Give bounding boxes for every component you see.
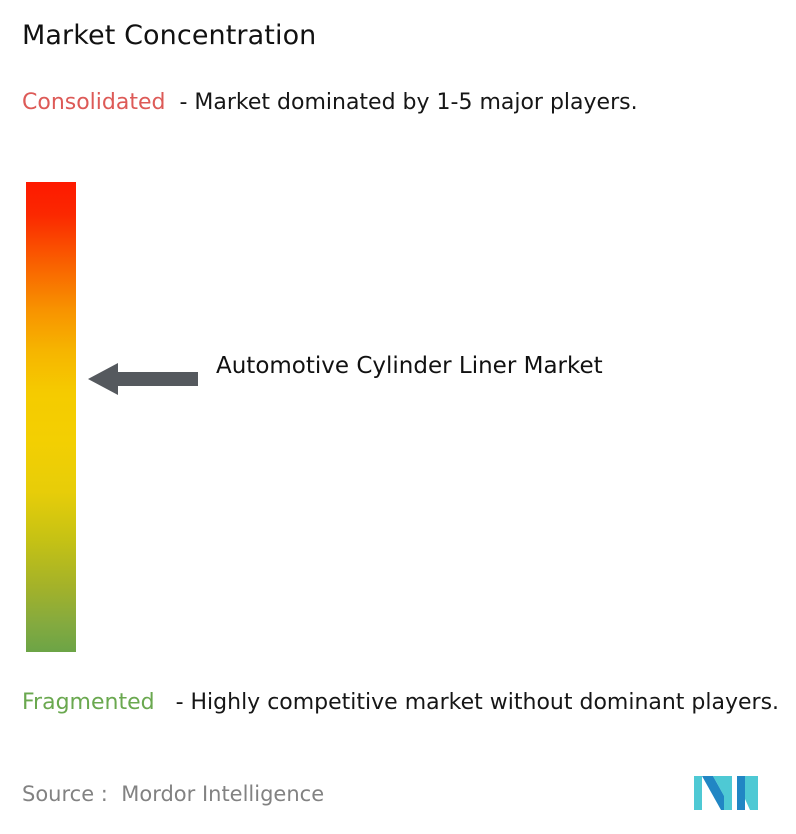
left-arrow-icon — [88, 363, 198, 395]
concentration-gradient-bar — [26, 182, 76, 652]
legend-consolidated: Consolidated - Market dominated by 1-5 m… — [22, 86, 774, 119]
legend-separator-bottom — [155, 690, 176, 715]
series-label: Automotive Cylinder Liner Market — [216, 349, 686, 384]
legend-separator-top — [165, 90, 179, 115]
legend-description-consolidated: - Market dominated by 1-5 major players. — [179, 90, 637, 115]
mordor-intelligence-logo-icon — [694, 768, 758, 810]
legend-term-consolidated: Consolidated — [22, 90, 165, 115]
market-pointer-arrow — [88, 363, 198, 395]
brand-logo — [694, 768, 758, 810]
legend-term-fragmented: Fragmented — [22, 690, 155, 715]
legend-fragmented: Fragmented - Highly competitive market w… — [22, 686, 788, 719]
legend-description-fragmented: - Highly competitive market without domi… — [176, 690, 779, 715]
page-title: Market Concentration — [22, 20, 316, 51]
source-caption: Source : Mordor Intelligence — [22, 782, 324, 806]
market-concentration-chart: Market Concentration Consolidated - Mark… — [0, 0, 796, 834]
